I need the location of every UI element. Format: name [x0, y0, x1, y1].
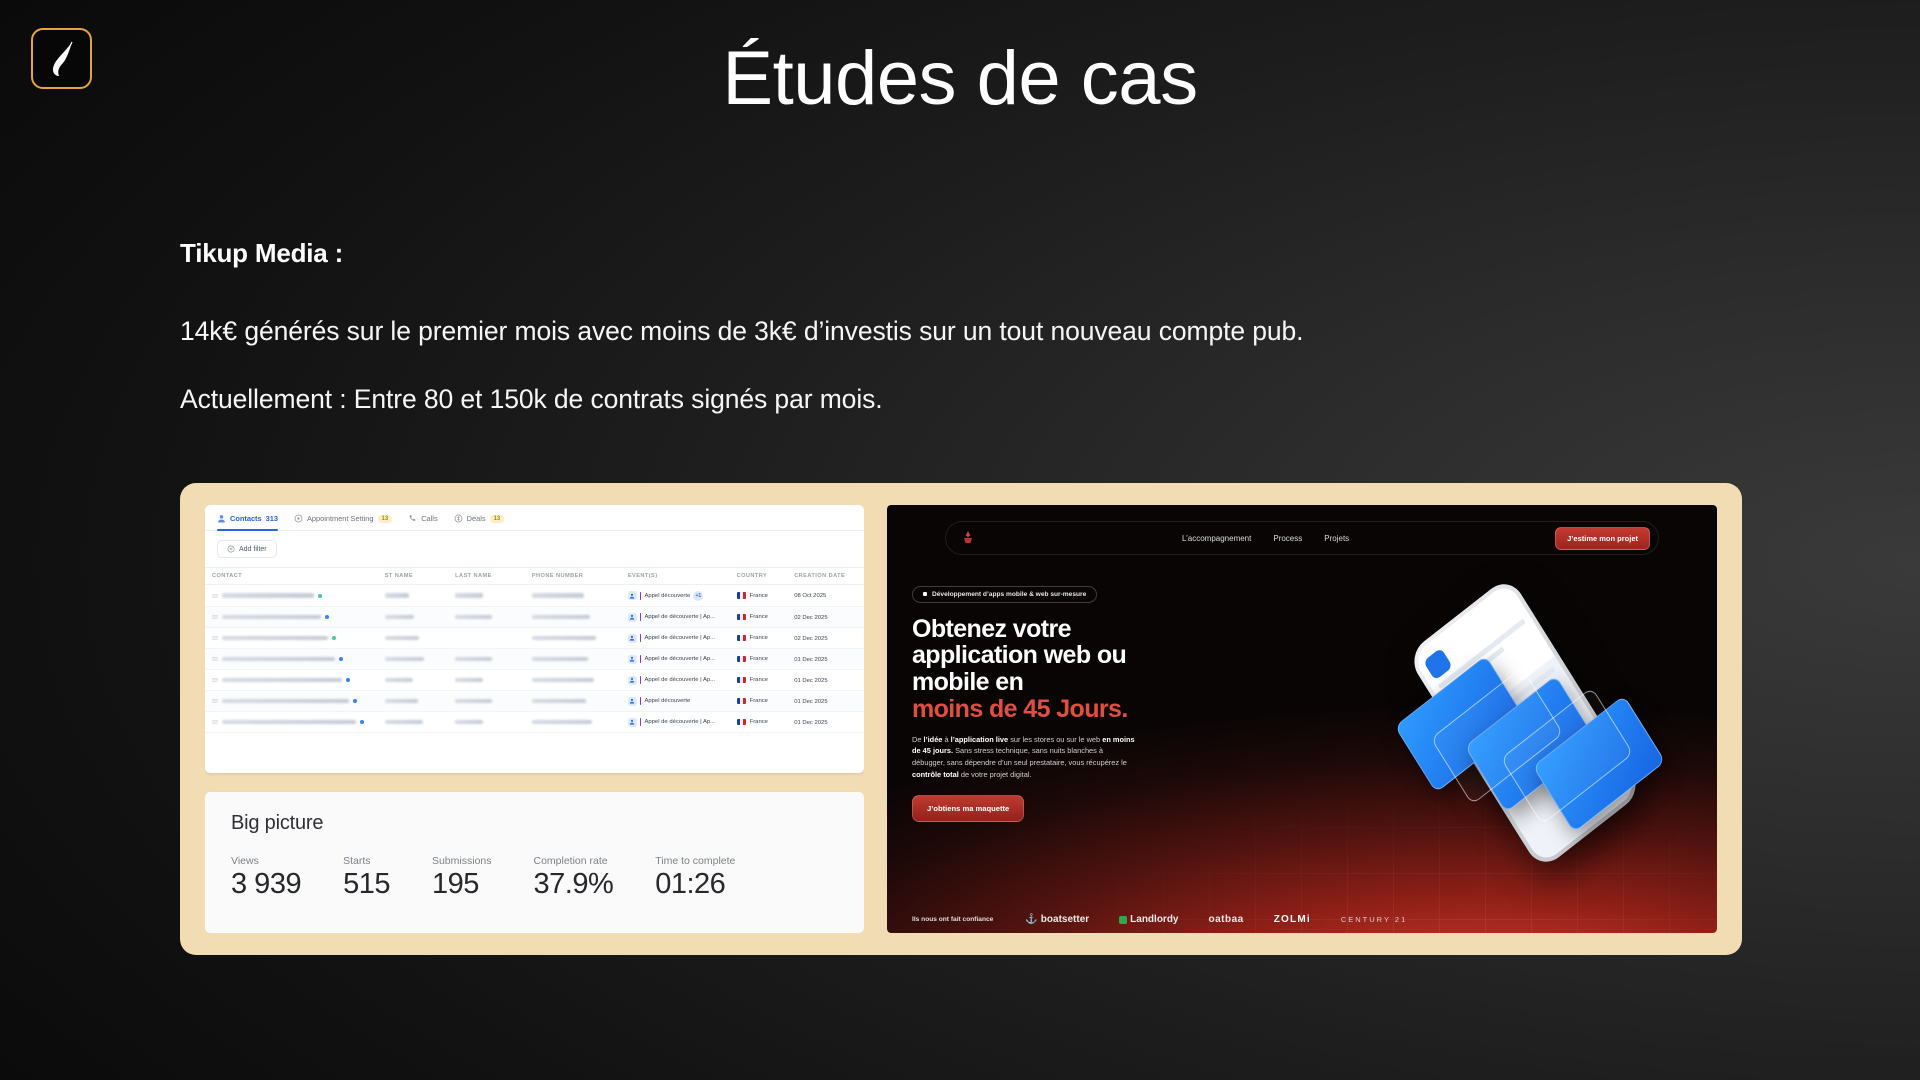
showcase-right-pane: L’accompagnement Process Projets J’estim…: [887, 505, 1717, 933]
france-flag-icon: [737, 635, 746, 642]
contact-icon: [217, 514, 226, 523]
redacted-email: [222, 636, 328, 641]
column-header-phone-number[interactable]: PHONE NUMBER: [525, 568, 621, 585]
status-dot: [353, 699, 357, 703]
mail-icon: [212, 719, 218, 725]
cell-phone-number: [525, 607, 621, 628]
stat-value: 515: [343, 870, 390, 899]
crm-tab-appointment-setting[interactable]: Appointment Setting 13: [294, 514, 392, 530]
redacted-email: [222, 678, 342, 683]
client-logo-landlordy: Landlordy: [1119, 914, 1178, 925]
cell-country: France: [730, 670, 788, 691]
event-label: Appel de découverte | Ap...: [644, 677, 715, 683]
redacted-phone: [532, 678, 594, 683]
event-label: Appel de découverte | Ap...: [644, 614, 715, 620]
client-logo-boatsetter-label: boatsetter: [1041, 914, 1089, 925]
stat-value: 195: [432, 870, 492, 899]
redacted-email: [222, 615, 321, 620]
landing-nav-menu: L’accompagnement Process Projets: [1182, 534, 1349, 543]
redacted-first-name: [385, 657, 424, 662]
country-label: France: [750, 656, 768, 662]
deal-icon: [454, 514, 463, 523]
mail-icon: [212, 677, 218, 683]
event-avatar-icon: [628, 634, 637, 643]
headline-line-3: mobile en: [912, 668, 1023, 696]
cell-last-name: [448, 670, 525, 691]
cell-phone-number: [525, 649, 621, 670]
status-dot: [346, 678, 350, 682]
headline-line-2: application web ou: [912, 641, 1126, 669]
crm-tab-contacts[interactable]: Contacts 313: [217, 514, 278, 530]
country-label: France: [750, 698, 768, 704]
event-avatar-icon: [628, 591, 637, 600]
column-header-last-name[interactable]: LAST NAME: [448, 568, 525, 585]
landing-footer-label: Ils nous ont fait confiance: [912, 916, 993, 923]
cell-country: France: [730, 607, 788, 628]
cell-first-name: [378, 585, 448, 607]
landing-page-screenshot: L’accompagnement Process Projets J’estim…: [887, 505, 1717, 933]
event-avatar-icon: [628, 676, 637, 685]
cell-events: Appel de découverte | Ap...: [621, 712, 730, 733]
mail-icon: [212, 635, 218, 641]
target-icon: [294, 514, 303, 523]
stat-label: Submissions: [432, 855, 492, 867]
redacted-last-name: [455, 720, 483, 725]
cell-contact: [205, 670, 378, 691]
crm-screenshot: Contacts 313 Appointment Setting 13 Call…: [205, 505, 864, 773]
landing-nav-item-accompagnement[interactable]: L’accompagnement: [1182, 534, 1251, 543]
stat-label: Completion rate: [534, 855, 614, 867]
landing-hero-pill-label: Développement d’apps mobile & web sur-me…: [932, 591, 1086, 598]
cell-events: Appel découverte: [621, 691, 730, 712]
event-color-bar: [640, 718, 642, 726]
france-flag-icon: [737, 677, 746, 684]
showcase-card: Contacts 313 Appointment Setting 13 Call…: [180, 483, 1742, 955]
creation-date-label: 01 Dec 2025: [794, 699, 827, 705]
cell-last-name: [448, 649, 525, 670]
france-flag-icon: [737, 719, 746, 726]
client-logo-landlordy-label: Landlordy: [1130, 914, 1178, 925]
stat-item: Views3 939: [231, 855, 301, 899]
big-picture-stats: Views3 939Starts515Submissions195Complet…: [231, 855, 838, 899]
stat-item: Submissions195: [432, 855, 492, 899]
client-logo-zolmi: ZOLMi: [1274, 914, 1311, 925]
creation-date-label: 02 Dec 2025: [794, 615, 827, 621]
crm-filter-bar: Add filter: [205, 531, 864, 567]
stat-value: 3 939: [231, 870, 301, 899]
page-title: Études de cas: [0, 38, 1920, 120]
table-row[interactable]: Appel de découverte | Ap...France01 Dec …: [205, 670, 864, 691]
stat-item: Completion rate37.9%: [534, 855, 614, 899]
event-avatar-icon: [628, 718, 637, 727]
redacted-last-name: [455, 615, 492, 620]
case-study-copy: Tikup Media : 14k€ générés sur le premie…: [180, 238, 1780, 451]
crm-tab-deals-badge: 13: [490, 515, 505, 523]
event-color-bar: [640, 613, 642, 621]
crm-tab-deals-label: Deals: [467, 514, 486, 523]
redacted-first-name: [385, 593, 409, 598]
crm-tab-contacts-label: Contacts: [230, 514, 262, 523]
mail-icon: [212, 614, 218, 620]
column-header-first-name[interactable]: ST NAME: [378, 568, 448, 585]
client-logo-century21: CENTURY 21: [1341, 915, 1407, 924]
cell-last-name: [448, 585, 525, 607]
cell-creation-date: 01 Dec 2025: [787, 670, 864, 691]
cell-first-name: [378, 670, 448, 691]
add-filter-button[interactable]: Add filter: [217, 540, 277, 558]
table-row[interactable]: Appel de découverte | Ap...France01 Dec …: [205, 649, 864, 670]
column-header-creation-date[interactable]: CREATION DATE: [787, 568, 864, 585]
redacted-first-name: [385, 699, 418, 704]
crm-tab-appointment-setting-badge: 13: [378, 515, 393, 523]
redacted-last-name: [455, 699, 492, 704]
cell-creation-date: 01 Dec 2025: [787, 649, 864, 670]
redacted-email: [222, 593, 314, 598]
cell-events: Appel de découverte | Ap...: [621, 670, 730, 691]
france-flag-icon: [737, 592, 746, 599]
status-dot: [332, 636, 336, 640]
event-avatar-icon: [628, 697, 637, 706]
landing-footer-logos: Ils nous ont fait confiance ⚓boatsetter …: [912, 914, 1699, 925]
crm-tab-bar: Contacts 313 Appointment Setting 13 Call…: [205, 505, 864, 531]
cell-first-name: [378, 607, 448, 628]
redacted-last-name: [455, 657, 492, 662]
country-label: France: [750, 719, 768, 725]
showcase-left-pane: Contacts 313 Appointment Setting 13 Call…: [205, 505, 864, 933]
landing-hero-paragraph: De l’idée à l’application live sur les s…: [912, 734, 1137, 782]
stat-value: 37.9%: [534, 870, 614, 899]
creation-date-label: 02 Dec 2025: [794, 636, 827, 642]
event-color-bar: [640, 634, 642, 642]
event-avatar-icon: [628, 613, 637, 622]
crm-tab-calls-label: Calls: [421, 514, 437, 523]
cell-contact: [205, 607, 378, 628]
creation-date-label: 01 Dec 2025: [794, 720, 827, 726]
cell-creation-date: 08 Oct 2025: [787, 585, 864, 607]
phone-icon: [408, 514, 417, 523]
cell-phone-number: [525, 691, 621, 712]
cell-country: France: [730, 585, 788, 607]
phone-mockup: [1387, 593, 1687, 843]
cell-first-name: [378, 649, 448, 670]
redacted-first-name: [385, 636, 419, 641]
event-label: Appel découverte: [644, 698, 690, 704]
cell-contact: [205, 712, 378, 733]
event-label: Appel de découverte | Ap...: [644, 656, 715, 662]
status-dot: [360, 720, 364, 724]
table-body: Appel découverte+1France08 Oct 2025Appel…: [205, 585, 864, 733]
status-dot: [318, 594, 322, 598]
creation-date-label: 01 Dec 2025: [794, 657, 827, 663]
event-overflow-badge: +1: [693, 591, 703, 601]
big-picture-panel: Big picture Views3 939Starts515Submissio…: [205, 792, 864, 933]
cell-contact: [205, 691, 378, 712]
anchor-icon: ⚓: [1025, 914, 1037, 925]
cell-country: France: [730, 649, 788, 670]
event-color-bar: [640, 592, 642, 600]
contacts-table: CONTACT ST NAME LAST NAME PHONE NUMBER E…: [205, 567, 864, 733]
cell-country: France: [730, 712, 788, 733]
client-logo-row: ⚓boatsetter Landlordy oatbaa ZOLMi CENTU…: [1025, 914, 1407, 925]
cell-contact: [205, 628, 378, 649]
filter-icon: [227, 545, 235, 553]
cell-events: Appel de découverte | Ap...: [621, 649, 730, 670]
stat-item: Time to complete01:26: [655, 855, 735, 899]
cell-contact: [205, 585, 378, 607]
redacted-first-name: [385, 615, 414, 620]
france-flag-icon: [737, 614, 746, 621]
mail-icon: [212, 698, 218, 704]
cell-events: Appel de découverte | Ap...: [621, 607, 730, 628]
column-header-events[interactable]: EVENT(S): [621, 568, 730, 585]
table-row[interactable]: Appel de découverte | Ap...France02 Dec …: [205, 607, 864, 628]
landing-logo-icon[interactable]: [960, 530, 976, 546]
stat-value: 01:26: [655, 870, 735, 899]
status-dot: [339, 657, 343, 661]
country-label: France: [750, 614, 768, 620]
stat-label: Views: [231, 855, 301, 867]
event-color-bar: [640, 697, 642, 705]
redacted-last-name: [455, 593, 483, 598]
cell-phone-number: [525, 628, 621, 649]
table-row[interactable]: Appel découverteFrance01 Dec 2025: [205, 691, 864, 712]
crm-tab-appointment-setting-label: Appointment Setting: [307, 514, 374, 523]
landlordy-mark-icon: [1119, 916, 1127, 924]
landing-hero-headline: Obtenez votre application web ou mobile …: [912, 616, 1177, 723]
cell-last-name: [448, 607, 525, 628]
cell-events: Appel découverte+1: [621, 585, 730, 607]
event-color-bar: [640, 676, 642, 684]
case-study-paragraph-2: Actuellement : Entre 80 et 150k de contr…: [180, 383, 1780, 416]
redacted-last-name: [455, 678, 483, 683]
add-filter-label: Add filter: [239, 546, 267, 553]
redacted-phone: [532, 636, 596, 641]
cell-first-name: [378, 691, 448, 712]
column-header-contact[interactable]: CONTACT: [205, 568, 378, 585]
cell-creation-date: 02 Dec 2025: [787, 607, 864, 628]
cell-phone-number: [525, 712, 621, 733]
headline-line-1: Obtenez votre: [912, 615, 1071, 643]
case-study-heading: Tikup Media :: [180, 238, 1780, 269]
stat-item: Starts515: [343, 855, 390, 899]
cell-events: Appel de découverte | Ap...: [621, 628, 730, 649]
crm-tab-calls[interactable]: Calls: [408, 514, 437, 530]
cell-creation-date: 02 Dec 2025: [787, 628, 864, 649]
client-logo-oatbaa: oatbaa: [1209, 914, 1244, 925]
landing-hero: Développement d’apps mobile & web sur-me…: [912, 583, 1177, 822]
table-row[interactable]: Appel de découverte | Ap...France02 Dec …: [205, 628, 864, 649]
event-avatar-icon: [628, 655, 637, 664]
case-study-paragraph-1: 14k€ générés sur le premier mois avec mo…: [180, 315, 1780, 348]
status-dot: [325, 615, 329, 619]
bullet-icon: [923, 592, 927, 596]
cell-contact: [205, 649, 378, 670]
mail-icon: [212, 656, 218, 662]
redacted-phone: [532, 615, 590, 620]
event-color-bar: [640, 655, 642, 663]
landing-hero-pill: Développement d’apps mobile & web sur-me…: [912, 586, 1097, 603]
country-label: France: [750, 593, 768, 599]
cell-country: France: [730, 691, 788, 712]
headline-highlight: moins de 45 Jours.: [912, 696, 1177, 723]
big-picture-title: Big picture: [231, 812, 838, 835]
redacted-email: [222, 657, 335, 662]
redacted-first-name: [385, 720, 423, 725]
event-label: Appel découverte: [644, 593, 690, 599]
redacted-phone: [532, 699, 586, 704]
france-flag-icon: [737, 656, 746, 663]
redacted-phone: [532, 720, 592, 725]
redacted-phone: [532, 657, 588, 662]
france-flag-icon: [737, 698, 746, 705]
cell-first-name: [378, 712, 448, 733]
cell-creation-date: 01 Dec 2025: [787, 691, 864, 712]
event-label: Appel de découverte | Ap...: [644, 635, 715, 641]
redacted-email: [222, 699, 349, 704]
table-row[interactable]: Appel de découverte | Ap...France01 Dec …: [205, 712, 864, 733]
landing-nav-item-projets[interactable]: Projets: [1324, 534, 1349, 543]
country-label: France: [750, 677, 768, 683]
creation-date-label: 01 Dec 2025: [794, 678, 827, 684]
landing-nav-item-process[interactable]: Process: [1273, 534, 1302, 543]
event-label: Appel de découverte | Ap...: [644, 719, 715, 725]
stat-label: Starts: [343, 855, 390, 867]
country-label: France: [750, 635, 768, 641]
crm-tab-contacts-count: 313: [266, 514, 278, 523]
redacted-email: [222, 720, 356, 725]
landing-navbar: L’accompagnement Process Projets J’estim…: [945, 521, 1659, 555]
redacted-phone: [532, 593, 584, 598]
cell-last-name: [448, 712, 525, 733]
creation-date-label: 08 Oct 2025: [794, 593, 826, 599]
mail-icon: [212, 593, 218, 599]
stat-label: Time to complete: [655, 855, 735, 867]
table-header-row: CONTACT ST NAME LAST NAME PHONE NUMBER E…: [205, 568, 864, 585]
landing-nav-cta-button[interactable]: J’estime mon projet: [1555, 527, 1650, 550]
client-logo-boatsetter: ⚓boatsetter: [1025, 914, 1089, 925]
cell-phone-number: [525, 585, 621, 607]
crm-tab-deals[interactable]: Deals 13: [454, 514, 505, 530]
landing-hero-cta-button[interactable]: J’obtiens ma maquette: [912, 795, 1024, 822]
cell-country: France: [730, 628, 788, 649]
table-row[interactable]: Appel découverte+1France08 Oct 2025: [205, 585, 864, 607]
cell-phone-number: [525, 670, 621, 691]
column-header-country[interactable]: COUNTRY: [730, 568, 788, 585]
cell-creation-date: 01 Dec 2025: [787, 712, 864, 733]
cell-last-name: [448, 691, 525, 712]
cell-last-name: [448, 628, 525, 649]
redacted-first-name: [385, 678, 413, 683]
cell-first-name: [378, 628, 448, 649]
